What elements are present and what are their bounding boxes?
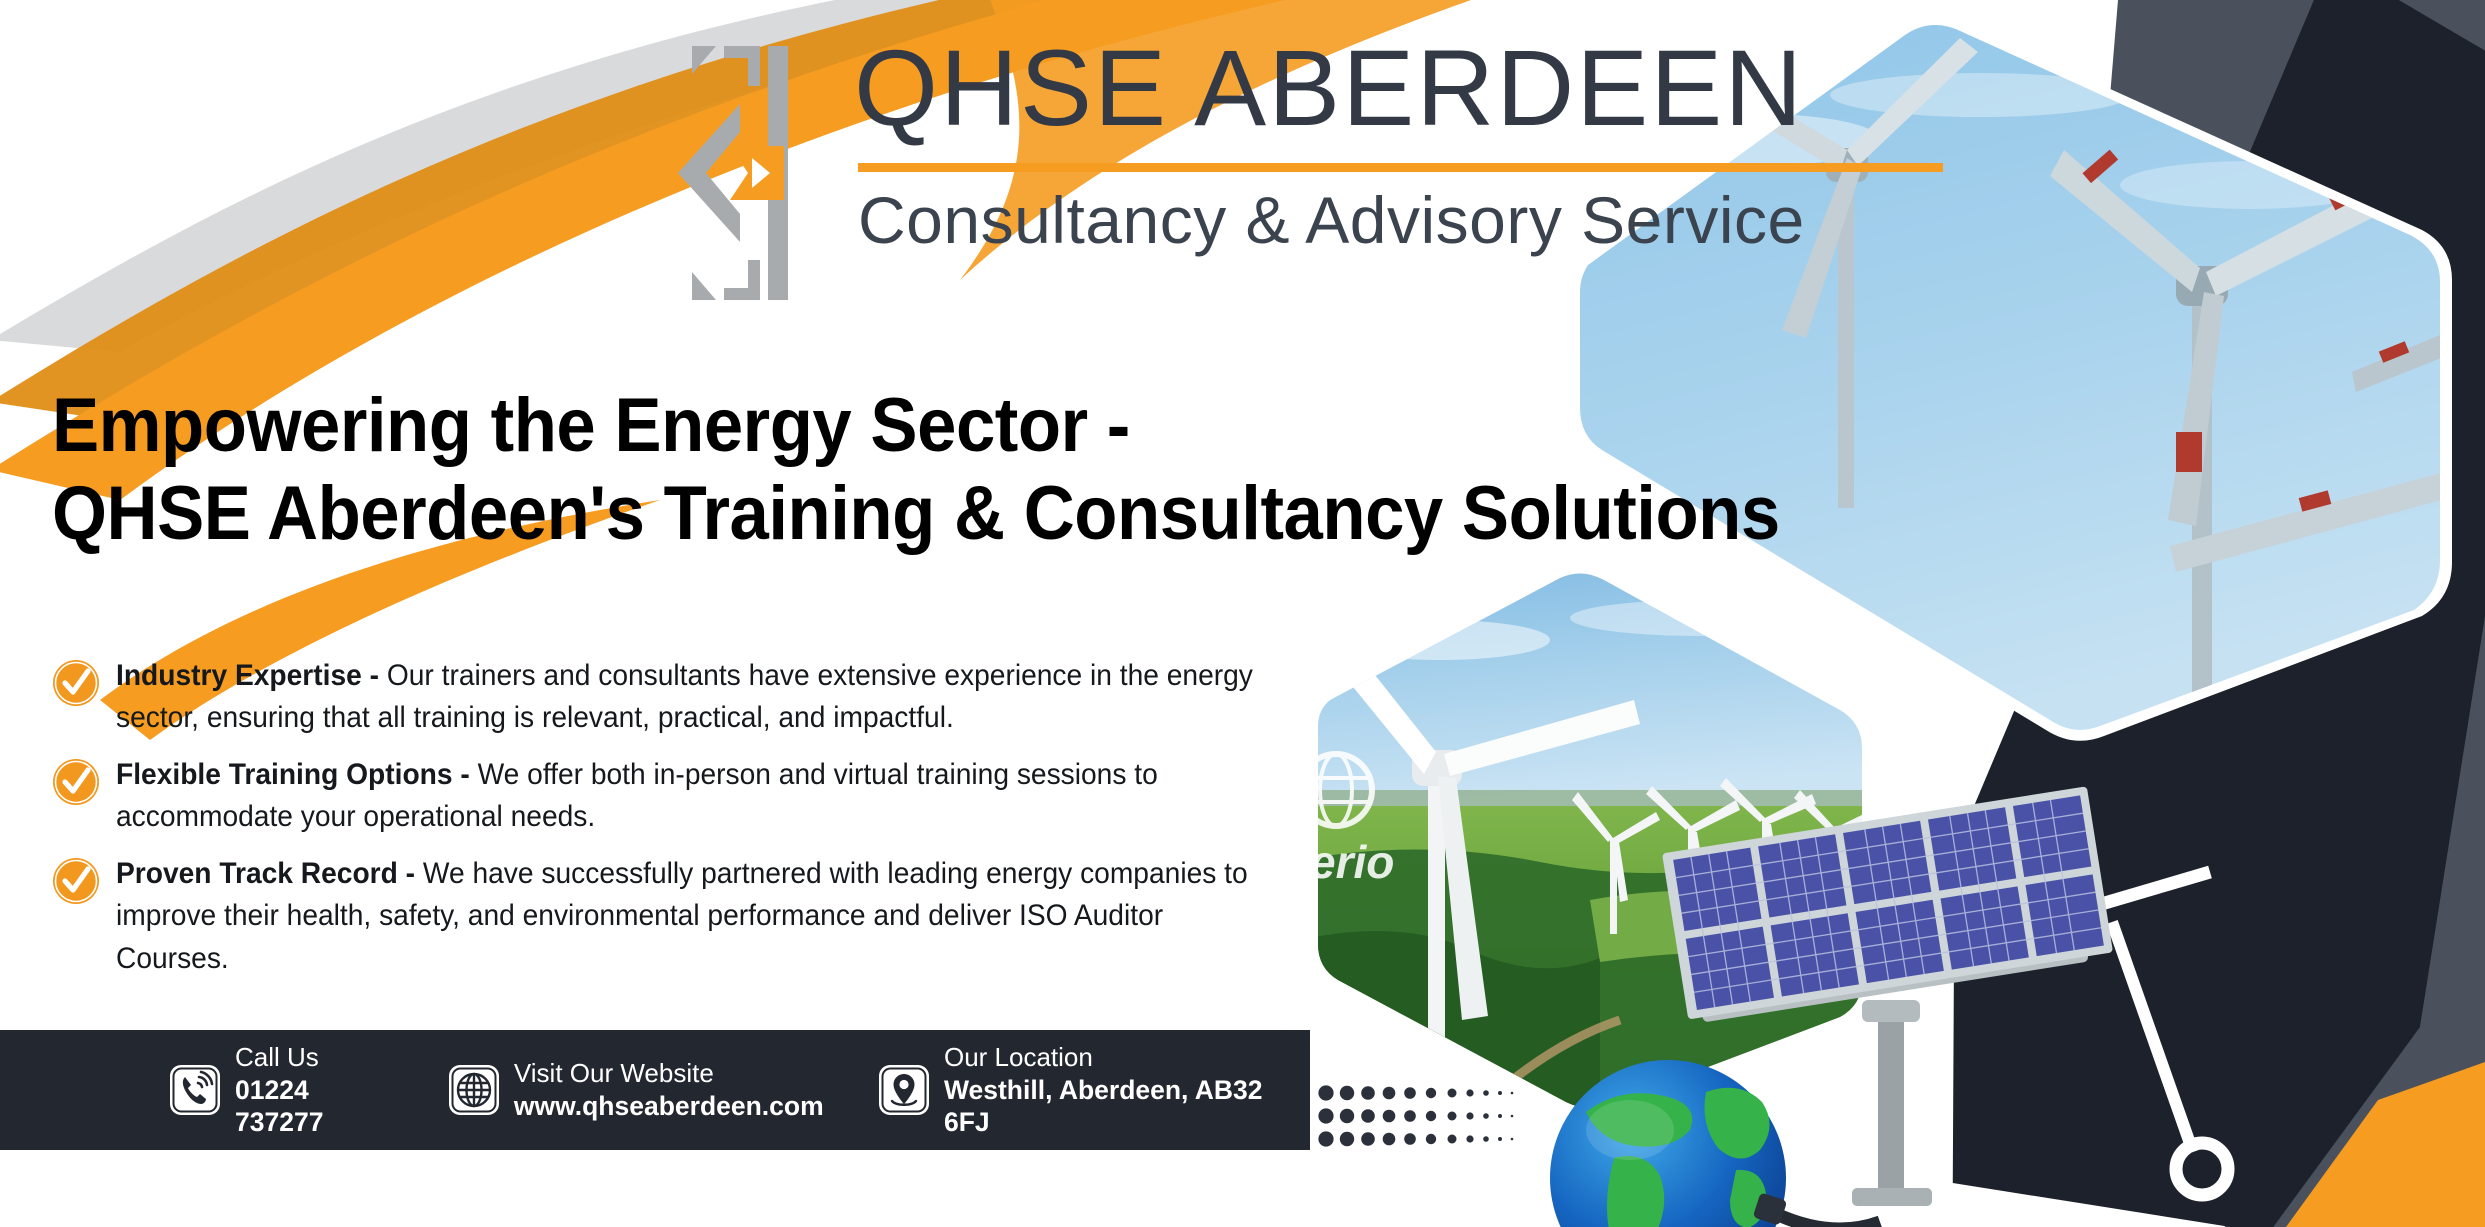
location-pin-icon — [877, 1063, 931, 1117]
headline-line-2: QHSE Aberdeen's Training & Consultancy S… — [52, 470, 1968, 558]
contact-call-label: Call Us — [235, 1042, 401, 1074]
contact-website-label: Visit Our Website — [514, 1058, 824, 1090]
contact-website-value: www.qhseaberdeen.com — [514, 1090, 824, 1122]
logo-divider-rule — [858, 163, 1943, 172]
check-circle-icon — [52, 758, 100, 806]
marketing-banner: erio — [0, 0, 2485, 1227]
contact-footer-bar: Call Us 01224 737277 Visi — [0, 1030, 1310, 1150]
globe-photo — [1550, 1060, 1880, 1227]
check-circle-icon — [52, 659, 100, 707]
contact-call-value: 01224 737277 — [235, 1074, 401, 1139]
contact-website[interactable]: Visit Our Website www.qhseaberdeen.com — [447, 1058, 824, 1122]
logo-title: QHSE ABERDEEN — [854, 28, 1964, 149]
benefits-list: Industry Expertise - Our trainers and co… — [52, 655, 1322, 980]
list-item-title: Industry Expertise - — [116, 659, 379, 692]
dot-matrix-decoration — [1318, 1085, 1518, 1147]
logo-chevron-mark — [672, 28, 812, 318]
contact-call[interactable]: Call Us 01224 737277 — [168, 1042, 401, 1138]
logo-subtitle: Consultancy & Advisory Service — [858, 182, 1964, 258]
check-circle-icon — [52, 857, 100, 905]
list-item-text: Flexible Training Options - We offer bot… — [116, 754, 1268, 839]
company-logo: QHSE ABERDEEN Consultancy & Advisory Ser… — [672, 28, 1972, 318]
headline-line-1: Empowering the Energy Sector - — [52, 382, 1968, 470]
contact-location-value: Westhill, Aberdeen, AB32 6FJ — [944, 1074, 1310, 1139]
list-item-text: Proven Track Record - We have successful… — [116, 853, 1268, 980]
list-item: Industry Expertise - Our trainers and co… — [52, 655, 1322, 740]
list-item-title: Flexible Training Options - — [116, 758, 470, 791]
headline: Empowering the Energy Sector - QHSE Aber… — [52, 382, 2112, 558]
contact-location[interactable]: Our Location Westhill, Aberdeen, AB32 6F… — [877, 1042, 1310, 1138]
list-item-text: Industry Expertise - Our trainers and co… — [116, 655, 1268, 740]
svg-text:erio: erio — [1310, 836, 1394, 888]
list-item: Proven Track Record - We have successful… — [52, 853, 1322, 980]
phone-icon — [168, 1063, 222, 1117]
contact-location-label: Our Location — [944, 1042, 1310, 1074]
list-item-title: Proven Track Record - — [116, 857, 415, 890]
list-item: Flexible Training Options - We offer bot… — [52, 754, 1322, 839]
globe-icon — [447, 1063, 501, 1117]
